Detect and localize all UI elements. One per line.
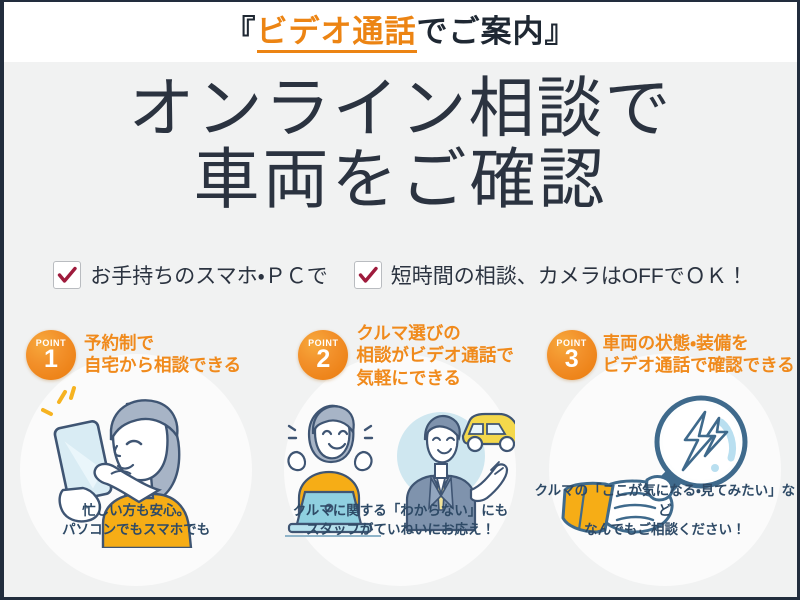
page-title: オンライン相談で 車両をご確認 xyxy=(4,76,797,211)
point-title-2-line-1: クルマ選びの xyxy=(356,322,514,344)
headline-line-2: 車両をご確認 xyxy=(4,147,797,212)
point-title-2: クルマ選びの 相談がビデオ通話で 気軽にできる xyxy=(356,322,514,389)
point-caption-3-line-1: クルマの「ここが気になる・見てみたい」など xyxy=(533,481,797,520)
check-label-1: お手持ちのスマホ・ＰＣで xyxy=(90,260,328,290)
header-close-bracket: 』 xyxy=(545,14,577,49)
point-caption-3: クルマの「ここが気になる・見てみたい」など なんでもご相談ください！ xyxy=(533,481,797,540)
check-item-1: お手持ちのスマホ・ＰＣで xyxy=(53,260,328,290)
point-caption-2: クルマに関する「わからない」にも スタッフがていねいにお応え！ xyxy=(268,501,532,540)
banner-header: 『ビデオ通話でご案内』 xyxy=(4,10,797,54)
check-label-2: 短時間の相談、カメラはOFFでＯＫ！ xyxy=(391,260,748,290)
point-caption-1-line-2: パソコンでもスマホでも xyxy=(4,520,268,540)
header-accent-text: ビデオ通話 xyxy=(257,14,417,53)
point-caption-2-line-2: スタッフがていねいにお応え！ xyxy=(268,520,532,540)
point-title-2-line-3: 気軽にできる xyxy=(356,367,514,389)
point-badge-3: POINT 3 xyxy=(547,330,597,380)
point-caption-3-line-2: なんでもご相談ください！ xyxy=(533,520,797,540)
point-title-3-line-2: ビデオ通話で確認できる xyxy=(603,354,795,376)
check-item-2: 短時間の相談、カメラはOFFでＯＫ！ xyxy=(354,260,748,290)
point-title-3-line-1: 車両の状態・装備を xyxy=(603,332,795,354)
point-card-2: POINT 2 クルマ選びの 相談がビデオ通話で 気軽にできる xyxy=(268,318,532,578)
point-title-1: 予約制で 自宅から相談できる xyxy=(84,332,241,377)
point-badge-number-1: 1 xyxy=(26,347,76,371)
feature-check-row: お手持ちのスマホ・ＰＣで 短時間の相談、カメラはOFFでＯＫ！ xyxy=(4,260,797,290)
point-title-1-line-2: 自宅から相談できる xyxy=(84,354,241,376)
point-badge-1: POINT 1 xyxy=(26,330,76,380)
point-badge-2: POINT 2 xyxy=(298,330,348,380)
point-badge-number-3: 3 xyxy=(547,347,597,371)
header-rest-text: でご案内 xyxy=(417,14,545,49)
promo-banner: 『ビデオ通話でご案内』 オンライン相談で 車両をご確認 お手持ちのスマホ・ＰＣで… xyxy=(0,0,800,600)
point-caption-1: 忙しい方も安心。 パソコンでもスマホでも xyxy=(4,501,268,540)
check-icon xyxy=(53,261,81,289)
point-card-1: POINT 1 予約制で 自宅から相談できる xyxy=(4,318,268,578)
point-caption-2-line-1: クルマに関する「わからない」にも xyxy=(268,501,532,521)
point-title-3: 車両の状態・装備を ビデオ通話で確認できる xyxy=(603,332,795,377)
check-icon xyxy=(354,261,382,289)
header-open-bracket: 『 xyxy=(225,14,257,49)
headline-line-1: オンライン相談で xyxy=(4,76,797,141)
points-row: POINT 1 予約制で 自宅から相談できる xyxy=(4,318,797,578)
point-badge-number-2: 2 xyxy=(298,347,348,371)
point-caption-1-line-1: 忙しい方も安心。 xyxy=(4,501,268,521)
point-title-1-line-1: 予約制で xyxy=(84,332,241,354)
point-title-2-line-2: 相談がビデオ通話で xyxy=(356,344,514,366)
point-card-3: POINT 3 車両の状態・装備を ビデオ通話で確認できる xyxy=(533,318,797,578)
